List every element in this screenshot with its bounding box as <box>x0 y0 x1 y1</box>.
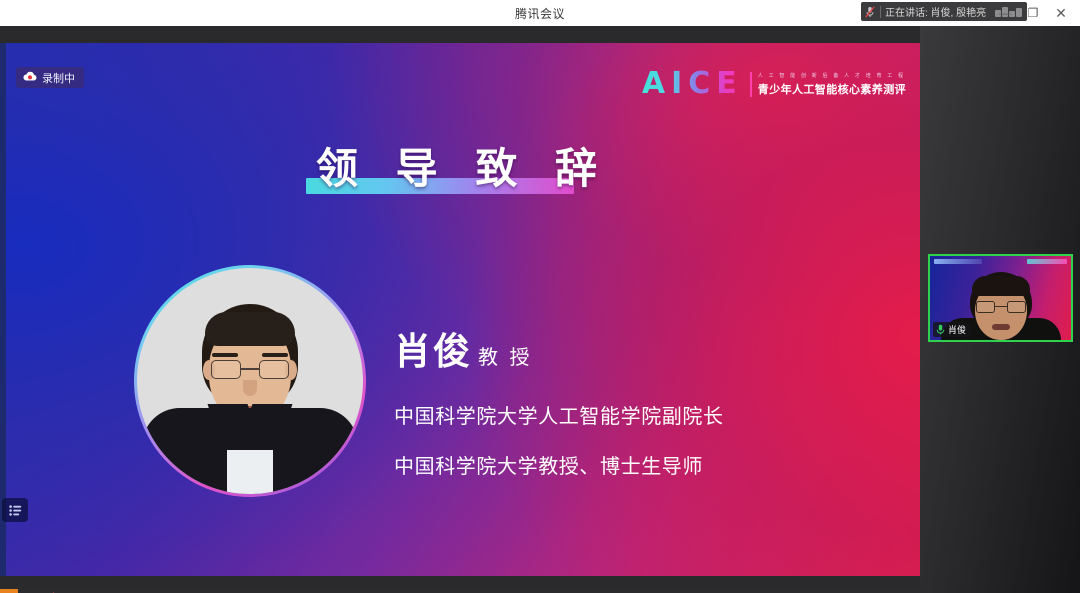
speaker-affiliation-line-2: 中国科学院大学教授、博士生导师 <box>394 450 703 479</box>
stage-top-letterbox <box>0 26 920 43</box>
speaker-academic-title: 教 授 <box>478 341 533 370</box>
aice-wordmark: AICE <box>642 69 743 99</box>
window-title: 腾讯会议 <box>515 5 565 22</box>
screen-share-bar: 李博的屏幕共享 <box>0 589 920 593</box>
recording-badge[interactable]: 录制中 <box>16 67 84 88</box>
cloud-record-icon <box>23 69 37 87</box>
aice-logo: AICE 人 工 智 能 创 新 后 备 人 才 培 育 工 程 青少年人工智能… <box>642 69 906 99</box>
slide-title-container: 领 导 致 辞 <box>6 135 920 196</box>
slide-title: 领 导 致 辞 <box>312 135 614 196</box>
portrait-photo <box>137 268 363 494</box>
maximize-button[interactable]: ❐ <box>1020 0 1046 26</box>
participant-name-badge: 肖俊 <box>933 322 971 337</box>
speaker-name-row: 肖俊 教 授 <box>394 321 533 375</box>
video-bg-slide-logo <box>1027 259 1067 264</box>
speaking-text: 正在讲话: 肖俊, 殷艳亮 <box>885 4 995 19</box>
list-menu-icon[interactable] <box>2 498 28 522</box>
person-icon <box>0 589 18 593</box>
aice-tagline-main: 青少年人工智能核心素养测评 <box>758 81 906 97</box>
close-button[interactable]: ✕ <box>1048 0 1074 26</box>
mic-on-icon <box>936 324 945 335</box>
minimize-button[interactable]: — <box>992 0 1018 26</box>
mic-muted-icon <box>864 5 876 19</box>
video-bg-slide-text <box>934 259 982 264</box>
speaker-name: 肖俊 <box>394 321 472 375</box>
aice-logo-text: 人 工 智 能 创 新 后 备 人 才 培 育 工 程 青少年人工智能核心素养测… <box>750 72 906 97</box>
participant-video-tile[interactable]: 肖俊 <box>928 254 1073 342</box>
participant-name: 肖俊 <box>948 323 966 336</box>
presentation-slide: 录制中 AICE 人 工 智 能 创 新 后 备 人 才 培 育 工 程 青少年… <box>6 43 920 576</box>
tencent-meeting-window: 腾讯会议 正在讲话: 肖俊, 殷艳亮 — ❐ ✕ <box>0 0 1080 593</box>
recording-label: 录制中 <box>42 70 75 86</box>
speaker-portrait <box>134 265 366 497</box>
divider <box>880 6 881 18</box>
participant-panel: 肖俊 <box>920 26 1080 593</box>
shared-screen-stage: 录制中 AICE 人 工 智 能 创 新 后 备 人 才 培 育 工 程 青少年… <box>0 26 920 593</box>
aice-tagline-small: 人 工 智 能 创 新 后 备 人 才 培 育 工 程 <box>758 72 906 79</box>
speaker-affiliation-line-1: 中国科学院大学人工智能学院副院长 <box>394 400 724 429</box>
